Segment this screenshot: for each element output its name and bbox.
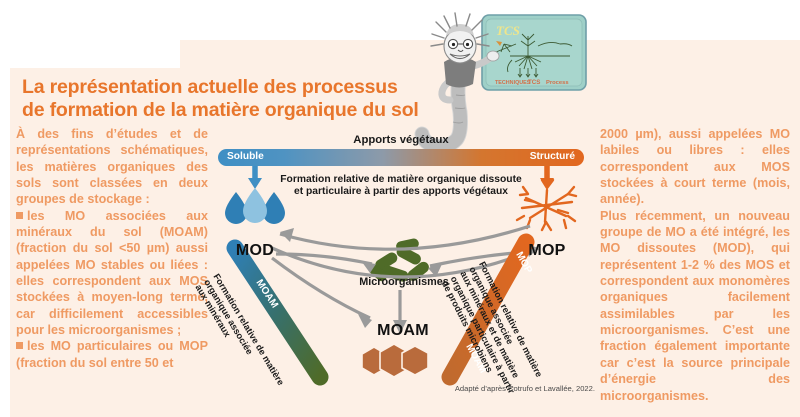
left-paragraph-1: À des fins d’études et de représentation… bbox=[16, 126, 208, 208]
diagram-credit: Adapté d’après Cotrufo et Lavallée, 2022… bbox=[425, 384, 595, 393]
body-text-left-column: À des fins d’études et de représentation… bbox=[16, 126, 208, 371]
left-bullet-2: les MO particulaires ou MOP (fraction du… bbox=[16, 338, 208, 371]
left-bullet-2-text: les MO particulaires ou MOP (fraction du… bbox=[16, 339, 208, 369]
worm-head-icon bbox=[431, 13, 489, 63]
right-paragraph-1: 2000 µm), aussi appelées MO labiles ou l… bbox=[600, 126, 790, 208]
som-formation-diagram: Apports végétaux Soluble Structuré Forma… bbox=[210, 132, 592, 407]
moam-hexagons-icon bbox=[362, 344, 428, 377]
board-title: TCS bbox=[496, 23, 520, 38]
node-label-mod: MOD bbox=[218, 242, 292, 260]
arrow-down-to-mop-icon bbox=[540, 166, 554, 189]
node-label-mop: MOP bbox=[510, 242, 584, 260]
right-paragraph-2: Plus récemment, un nouveau groupe de MO … bbox=[600, 208, 790, 404]
arrow-down-to-mod-icon bbox=[248, 166, 262, 189]
node-label-moam: MOAM bbox=[360, 322, 446, 340]
bullet-square-icon bbox=[16, 212, 23, 219]
board-footer-left: TECHNIQUES bbox=[495, 80, 531, 86]
microorganisms-label: Microorganismes bbox=[338, 276, 470, 288]
board-footer-mid: TCS bbox=[528, 79, 540, 86]
board-footer-right: Process bbox=[546, 80, 569, 86]
bullet-square-icon bbox=[16, 342, 23, 349]
page-root: La représentation actuelle des processus… bbox=[0, 0, 800, 417]
left-bullet-1: les MO associées aux minéraux du sol (MO… bbox=[16, 208, 208, 339]
left-bullet-1-text: les MO associées aux minéraux du sol (MO… bbox=[16, 209, 208, 337]
mod-droplets-icon bbox=[225, 188, 285, 224]
body-text-right-column: 2000 µm), aussi appelées MO labiles ou l… bbox=[600, 126, 790, 404]
earthworm-professor-illustration: TCS TECHNIQUES TCS bbox=[400, 0, 620, 145]
mop-particle-icon bbox=[517, 180, 576, 230]
